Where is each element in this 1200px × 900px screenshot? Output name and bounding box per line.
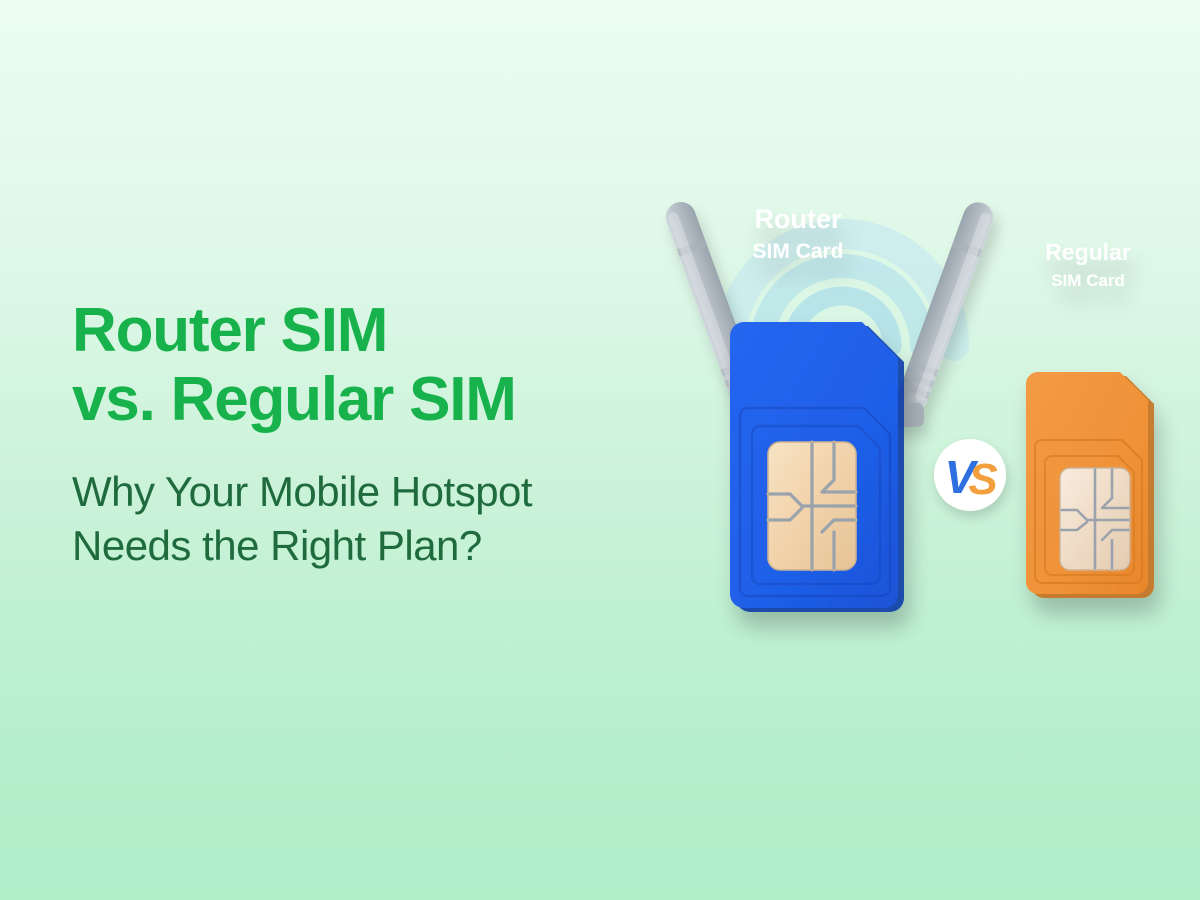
router-card-title: Router bbox=[755, 204, 842, 234]
vs-badge-letter-s: S bbox=[968, 455, 997, 504]
page-title: Router SIM vs. Regular SIM bbox=[72, 296, 732, 435]
sim-chip-icon bbox=[1060, 468, 1130, 570]
promo-banner: Router SIM vs. Regular SIM Why Your Mobi… bbox=[0, 0, 1200, 900]
vs-badge: V S bbox=[934, 439, 1006, 511]
copy-block: Router SIM vs. Regular SIM Why Your Mobi… bbox=[72, 296, 732, 572]
sim-chip-icon bbox=[768, 442, 856, 570]
router-card-subtitle: SIM Card bbox=[752, 240, 843, 263]
sim-comparison-illustration: Router SIM Card bbox=[640, 150, 1200, 670]
page-subtitle: Why Your Mobile Hotspot Needs the Right … bbox=[72, 465, 732, 573]
regular-card-title: Regular bbox=[1045, 239, 1131, 265]
regular-card-subtitle: SIM Card bbox=[1051, 271, 1125, 290]
regular-sim-card: Regular SIM Card bbox=[1026, 239, 1154, 598]
